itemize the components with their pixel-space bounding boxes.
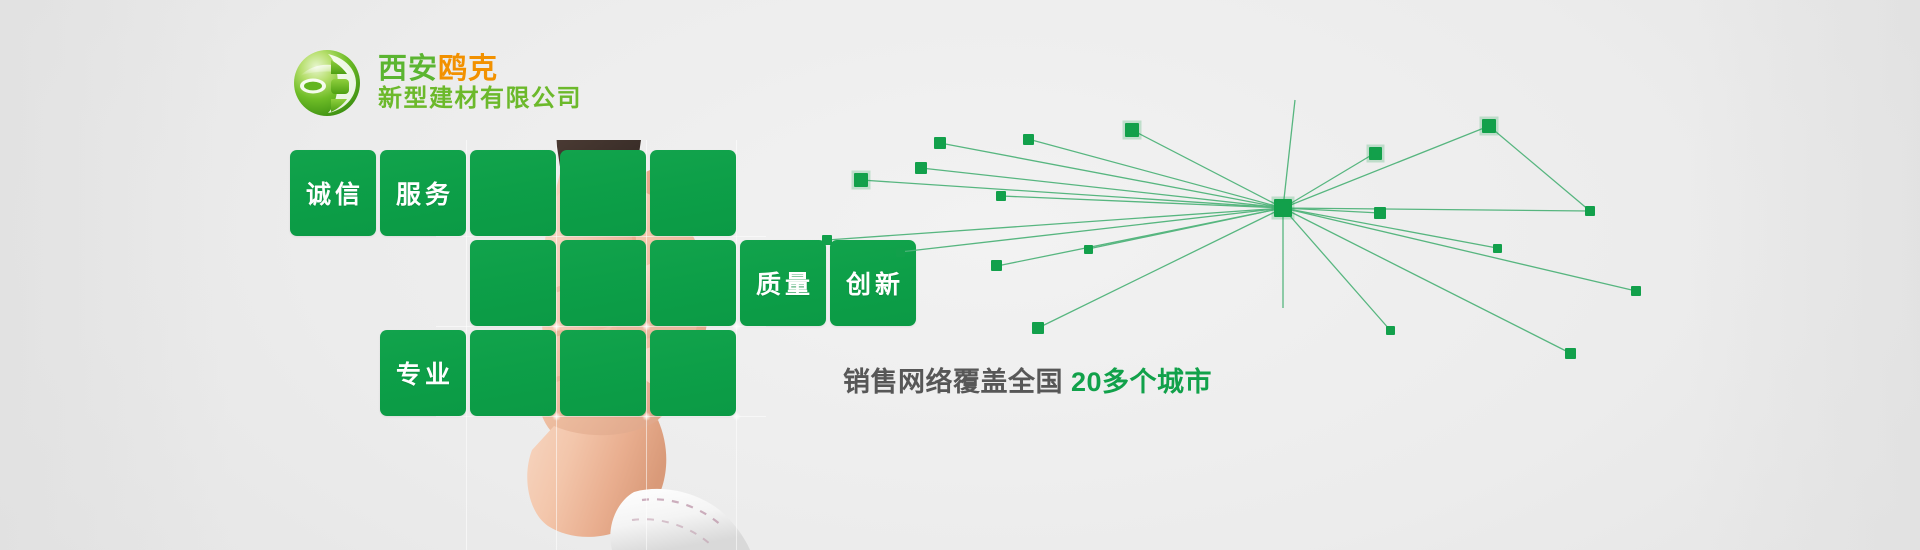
logo-line-1: 西安鸥克 — [378, 55, 582, 84]
company-logo[interactable]: 西安鸥克 新型建材有限公司 — [290, 46, 582, 120]
network-nodes — [822, 119, 1641, 359]
logo-city: 西安 — [378, 53, 438, 85]
value-tile-专业[interactable]: 专业 — [380, 330, 466, 416]
value-tile-label: 诚信 — [290, 150, 376, 236]
sales-network-tagline: 销售网络覆盖全国 20多个城市 — [843, 360, 1212, 399]
value-tile-blank — [290, 330, 376, 416]
banner-stage: 西安鸥克 新型建材有限公司 — [0, 0, 1920, 550]
value-tile-blank — [560, 240, 646, 326]
value-tile-label: 服务 — [380, 150, 466, 236]
value-tile-label: 专业 — [380, 330, 466, 416]
logo-line-2: 新型建材有限公司 — [378, 87, 582, 111]
value-tile-服务[interactable]: 服务 — [380, 150, 466, 236]
green-globe-leaf-icon — [290, 46, 364, 120]
value-tile-blank — [470, 150, 556, 236]
value-tile-blank — [380, 240, 466, 326]
logo-wordmark: 西安鸥克 新型建材有限公司 — [378, 55, 582, 111]
tagline-gray: 销售网络覆盖全国 — [843, 367, 1063, 397]
value-tile-blank — [560, 150, 646, 236]
value-tile-诚信[interactable]: 诚信 — [290, 150, 376, 236]
value-tile-blank — [470, 330, 556, 416]
value-tile-blank — [470, 240, 556, 326]
value-tile-blank — [560, 330, 646, 416]
value-tile-blank — [650, 330, 736, 416]
network-lines — [827, 100, 1636, 353]
value-tile-blank — [290, 240, 376, 326]
value-tile-blank — [650, 150, 736, 236]
value-tile-blank — [650, 240, 736, 326]
logo-brand: 鸥克 — [438, 53, 498, 85]
tagline-green: 20多个城市 — [1071, 367, 1212, 397]
